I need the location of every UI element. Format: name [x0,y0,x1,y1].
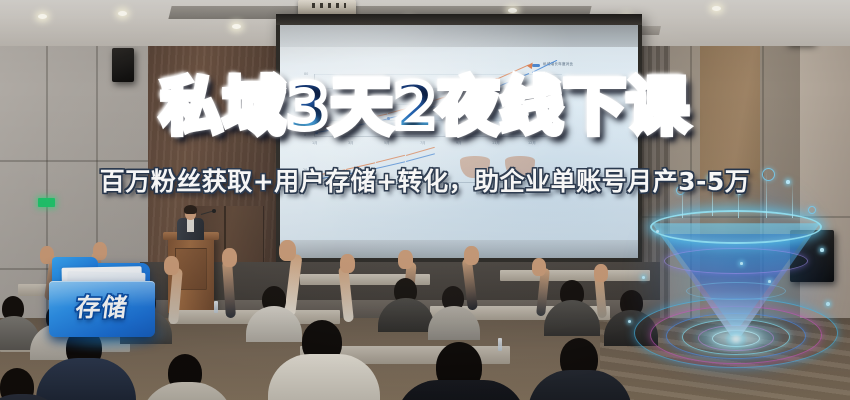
attendee-shoulders [378,298,434,332]
raised-hand [464,246,479,265]
presenter-shirt [187,219,194,232]
funnel-inner-ring [686,282,786,300]
water-bottle [498,338,502,351]
particle [740,262,743,265]
data-node-icon [808,206,816,214]
screen-roller-bar [276,14,642,25]
raised-arm [284,254,302,317]
particle [826,302,830,306]
ceiling-light [712,6,721,11]
attendee-shoulders [396,380,526,400]
ceiling-light [508,8,517,13]
attendee-shoulders [140,382,234,400]
raised-hand [279,240,296,261]
promo-banner: 私域增长年度对比 0 20 40 60 80 [0,0,850,400]
particle [628,320,631,323]
funnel-tip-glow [725,330,747,348]
raised-hand [594,264,608,282]
storage-folder-badge: 存储 [30,255,180,365]
page-subtitle: 百万粉丝获取+用户存储+转化，助企业单账号月产3-5万 [0,162,850,198]
raised-hand [532,258,546,276]
particle [768,280,771,283]
ceiling-light [118,11,127,16]
holographic-funnel-graphic [620,170,850,400]
raised-hand [222,248,237,267]
ceiling-light [38,14,47,19]
chart-trend-arrow [527,61,535,69]
ceiling-light [232,24,241,29]
raised-hand [340,254,355,273]
presenter-hair [184,205,197,214]
particle [642,276,645,279]
attendee-shoulders [528,370,632,400]
microphone-head [212,209,216,213]
folder-label: 存储 [47,288,157,324]
water-bottle [214,301,218,313]
projector-vents [312,3,346,8]
particle [820,248,824,252]
exit-sign [38,198,55,207]
page-title-outline: 私域3天2夜线下课 [0,76,850,138]
funnel-top-rim [650,210,822,244]
raised-hand [398,250,413,269]
screen-top-band [280,25,638,47]
funnel-mid-ring [664,248,808,274]
raised-arm [462,258,478,311]
particle [656,230,659,233]
